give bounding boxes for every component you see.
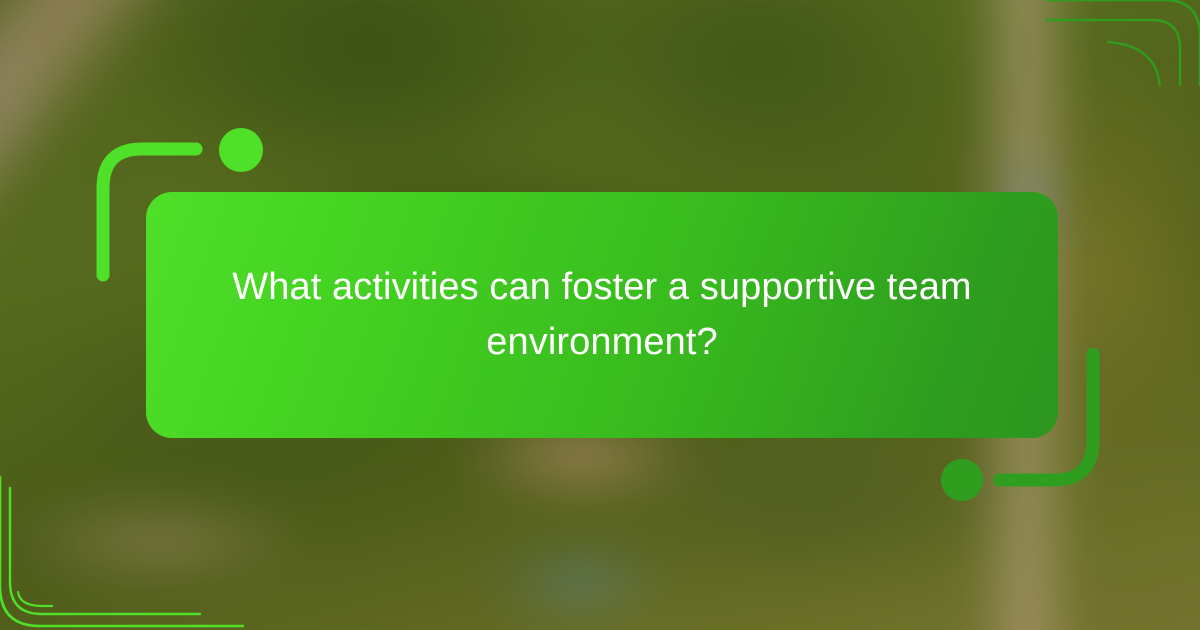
question-text: What activities can foster a supportive … bbox=[220, 260, 984, 371]
top-left-accent-dot bbox=[219, 128, 263, 172]
slide-canvas: What activities can foster a supportive … bbox=[0, 0, 1200, 630]
question-card: What activities can foster a supportive … bbox=[146, 192, 1058, 438]
bottom-right-accent-dot bbox=[941, 459, 983, 501]
